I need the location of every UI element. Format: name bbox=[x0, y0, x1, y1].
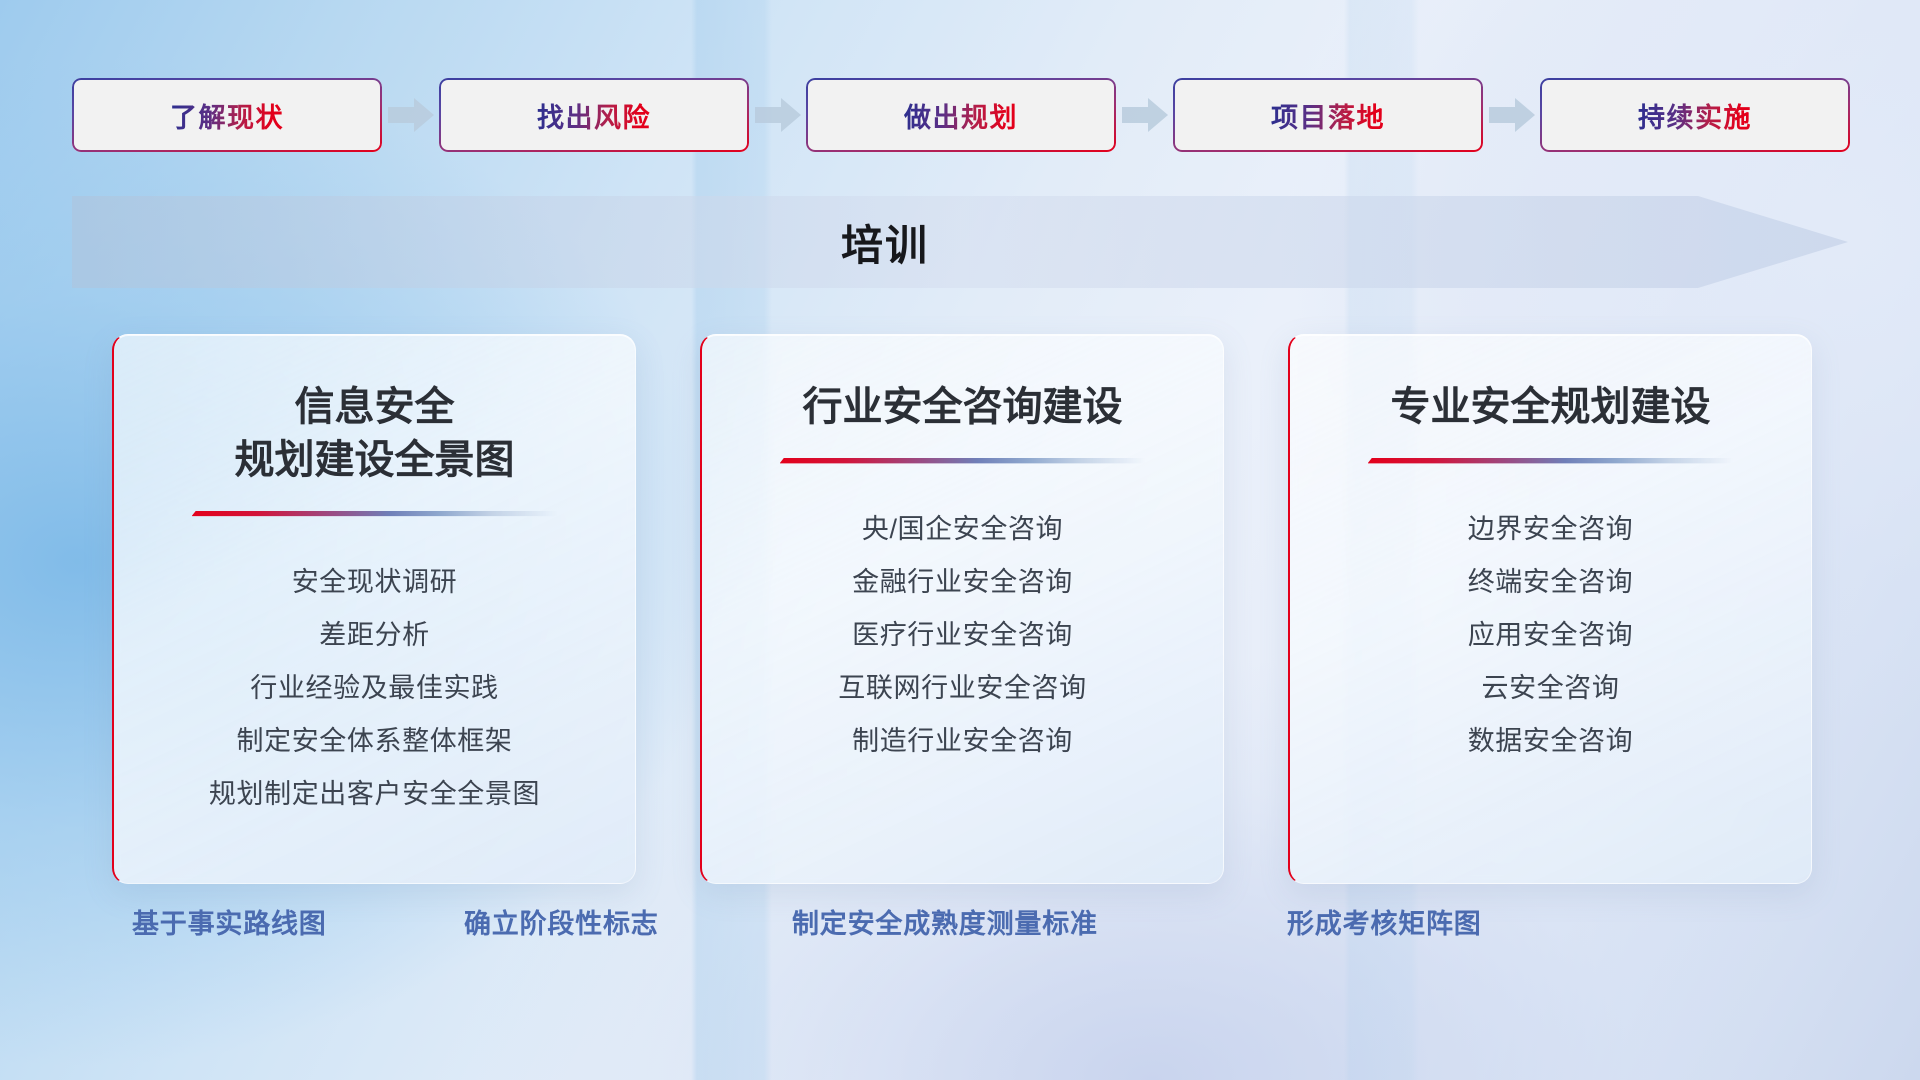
process-step-label: 找出风险 bbox=[537, 96, 651, 135]
card-title: 行业安全咨询建设 bbox=[803, 381, 1123, 434]
list-item: 规划制定出客户安全全景图 bbox=[140, 768, 609, 821]
list-item: 安全现状调研 bbox=[140, 556, 609, 609]
list-item: 央/国企安全咨询 bbox=[728, 503, 1197, 556]
caption-item: 形成考核矩阵图 bbox=[1287, 902, 1482, 941]
card-professional-security-planning[interactable]: 专业安全规划建设 边界安全咨询 终端安全咨询 应用安全咨询 云安全咨询 数据安全… bbox=[1288, 334, 1812, 884]
list-item: 终端安全咨询 bbox=[1316, 556, 1785, 609]
list-item: 制造行业安全咨询 bbox=[728, 715, 1197, 768]
card-divider bbox=[1368, 458, 1734, 467]
caption-row: 基于事实路线图 确立阶段性标志 制定安全成熟度测量标准 形成考核矩阵图 bbox=[112, 902, 1832, 950]
arrow-right-icon bbox=[1116, 95, 1173, 135]
card-industry-security-consulting[interactable]: 行业安全咨询建设 央/国企安全咨询 金融行业安全咨询 医疗行业安全咨询 互联网行… bbox=[700, 334, 1224, 884]
process-step-1[interactable]: 了解现状 bbox=[72, 78, 382, 152]
caption-item: 确立阶段性标志 bbox=[464, 902, 659, 941]
process-flow: 了解现状 找出风险 做出规划 项目落地 bbox=[72, 76, 1850, 154]
list-item: 行业经验及最佳实践 bbox=[140, 662, 609, 715]
card-divider bbox=[780, 458, 1146, 467]
process-step-2[interactable]: 找出风险 bbox=[439, 78, 749, 152]
process-step-4[interactable]: 项目落地 bbox=[1173, 78, 1483, 152]
slide-canvas: 了解现状 找出风险 做出规划 项目落地 bbox=[0, 0, 1920, 1080]
list-item: 应用安全咨询 bbox=[1316, 609, 1785, 662]
card-title: 信息安全 规划建设全景图 bbox=[235, 381, 515, 487]
process-step-label: 了解现状 bbox=[170, 96, 284, 135]
arrow-right-icon bbox=[1483, 95, 1540, 135]
card-list: 央/国企安全咨询 金融行业安全咨询 医疗行业安全咨询 互联网行业安全咨询 制造行… bbox=[728, 503, 1197, 768]
caption-item: 制定安全成熟度测量标准 bbox=[792, 902, 1098, 941]
list-item: 金融行业安全咨询 bbox=[728, 556, 1197, 609]
list-item: 边界安全咨询 bbox=[1316, 503, 1785, 556]
card-divider bbox=[192, 511, 558, 520]
list-item: 差距分析 bbox=[140, 609, 609, 662]
arrow-right-icon bbox=[749, 95, 806, 135]
card-info-security-blueprint[interactable]: 信息安全 规划建设全景图 安全现状调研 差距分析 行业经验及最佳实践 制定安全体… bbox=[112, 334, 636, 884]
training-banner: 培训 bbox=[72, 196, 1848, 288]
list-item: 数据安全咨询 bbox=[1316, 715, 1785, 768]
process-step-label: 做出规划 bbox=[904, 96, 1018, 135]
caption-item: 基于事实路线图 bbox=[132, 902, 327, 941]
banner-title: 培训 bbox=[72, 196, 1698, 288]
card-list: 边界安全咨询 终端安全咨询 应用安全咨询 云安全咨询 数据安全咨询 bbox=[1316, 503, 1785, 768]
list-item: 云安全咨询 bbox=[1316, 662, 1785, 715]
process-step-label: 持续实施 bbox=[1638, 96, 1752, 135]
list-item: 医疗行业安全咨询 bbox=[728, 609, 1197, 662]
process-step-label: 项目落地 bbox=[1271, 96, 1385, 135]
card-title: 专业安全规划建设 bbox=[1391, 381, 1711, 434]
list-item: 制定安全体系整体框架 bbox=[140, 715, 609, 768]
process-step-3[interactable]: 做出规划 bbox=[806, 78, 1116, 152]
arrow-right-icon bbox=[382, 95, 439, 135]
process-step-5[interactable]: 持续实施 bbox=[1540, 78, 1850, 152]
list-item: 互联网行业安全咨询 bbox=[728, 662, 1197, 715]
card-list: 安全现状调研 差距分析 行业经验及最佳实践 制定安全体系整体框架 规划制定出客户… bbox=[140, 556, 609, 821]
card-group: 信息安全 规划建设全景图 安全现状调研 差距分析 行业经验及最佳实践 制定安全体… bbox=[112, 334, 1812, 884]
